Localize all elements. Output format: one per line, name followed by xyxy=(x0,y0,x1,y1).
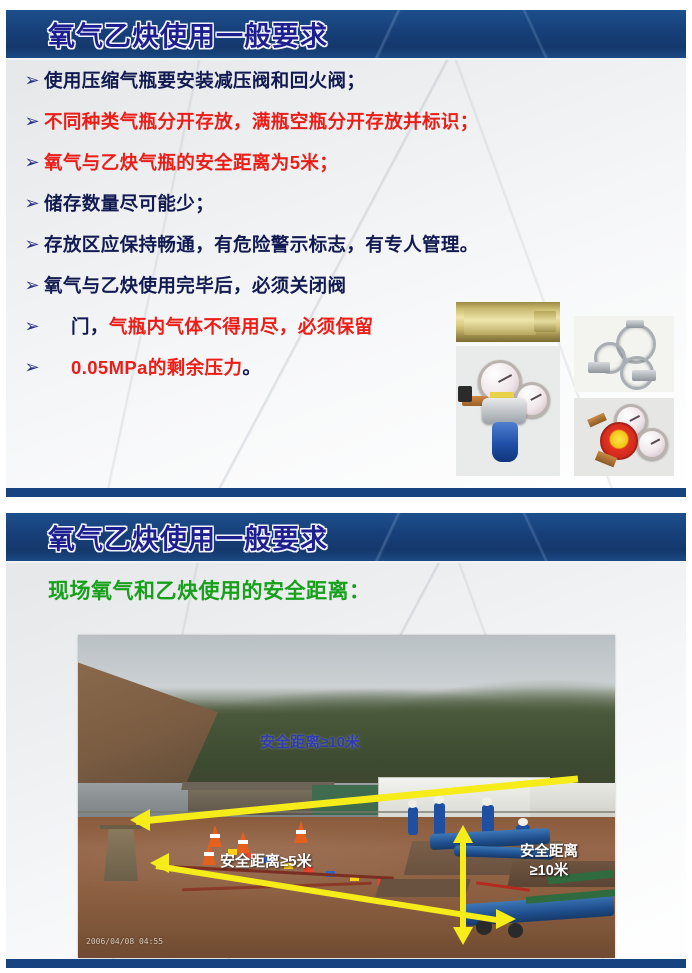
blue-oxygen-regulator-photo xyxy=(456,346,560,476)
distance-arrow-10m-vertical-head-down xyxy=(453,927,473,945)
distance-arrow-10m-head xyxy=(130,809,150,831)
clamp-screw xyxy=(626,320,644,328)
bullet-arrow-icon: ➢ xyxy=(20,312,44,342)
worker-helmet xyxy=(434,795,444,804)
bullet-arrow-icon: ➢ xyxy=(20,148,44,178)
equipment-photo-cluster xyxy=(452,302,676,480)
regulator-adjust-knob xyxy=(492,422,518,462)
worker-helmet xyxy=(482,797,492,806)
bullet-arrow-icon: ➢ xyxy=(20,230,44,260)
regulator-body xyxy=(482,398,526,424)
red-acetylene-regulator-photo xyxy=(574,398,674,476)
bullet-text: 储存数量尽可能少； xyxy=(44,189,214,219)
traffic-cone xyxy=(294,821,308,843)
distance-arrow-5m-head-right xyxy=(496,909,516,929)
bullet-item: ➢ 氧气与乙炔气瓶的安全距离为5米； xyxy=(20,148,678,189)
bullet-arrow-icon: ➢ xyxy=(20,66,44,96)
bullet-text-prefix: 门， xyxy=(71,316,109,337)
bullet-text: 门，气瓶内气体不得用尽，必须保留 xyxy=(44,312,373,342)
hose-clamps-photo xyxy=(574,316,674,392)
bullet-arrow-icon: ➢ xyxy=(20,271,44,301)
bullet-text: 0.05MPa的剩余压力。 xyxy=(44,353,261,383)
distance-arrow-10m-vertical xyxy=(460,839,466,933)
bullet-item: ➢ 存放区应保持畅通，有危险警示标志，有专人管理。 xyxy=(20,230,678,271)
annotation-bottom-5m: 安全距离≥5米 xyxy=(220,850,312,871)
bullet-text: 不同种类气瓶分开存放，满瓶空瓶分开存放并标识； xyxy=(44,107,479,137)
bullet-arrow-icon: ➢ xyxy=(20,189,44,219)
worker-helmet xyxy=(408,800,417,808)
slide-oxygen-acetylene-requirements: 氧气乙炔使用一般要求 ➢ 使用压缩气瓶要安装减压阀和回火阀； ➢ 不同种类气瓶分… xyxy=(6,10,686,497)
flashback-arrestor-photo xyxy=(456,302,560,342)
slide2-subtitle: 现场氧气和乙炔使用的安全距离： xyxy=(48,575,371,605)
slide2-footer-bar xyxy=(6,959,686,968)
bullet-text-suffix: 。 xyxy=(242,357,261,378)
slide-site-safety-distance: 氧气乙炔使用一般要求 现场氧气和乙炔使用的安全距离： xyxy=(6,513,686,968)
bullet-text: 氧气与乙炔使用完毕后，必须关闭阀 xyxy=(44,271,346,301)
bullet-arrow-icon: ➢ xyxy=(20,353,44,383)
clamp-screw xyxy=(632,370,656,381)
bullet-arrow-icon: ➢ xyxy=(20,107,44,137)
bullet-item: ➢ 不同种类气瓶分开存放，满瓶空瓶分开存放并标识； xyxy=(20,107,678,148)
worker-helmet xyxy=(518,818,528,826)
slide1-title: 氧气乙炔使用一般要求 xyxy=(48,15,328,54)
bullet-text: 使用压缩气瓶要安装减压阀和回火阀； xyxy=(44,66,365,96)
slide2-title: 氧气乙炔使用一般要求 xyxy=(48,518,328,557)
annotation-top-10m: 安全距离≥10米 xyxy=(260,731,360,752)
bullet-text-emphasis: 气瓶内气体不得用尽，必须保留 xyxy=(109,316,374,337)
annotation-right-10m-line1: 安全距离 xyxy=(520,843,578,862)
worker xyxy=(408,807,418,835)
bullet-text-emphasis: 0.05MPa的剩余压力 xyxy=(71,357,242,378)
annotation-right-10m-line2: ≥10米 xyxy=(520,862,578,881)
site-photo: 安全距离≥10米 安全距离≥5米 安全距离 ≥10米 2006/04/08 04… xyxy=(78,635,615,958)
slide1-banner: 氧气乙炔使用一般要求 xyxy=(6,10,686,60)
distance-arrow-10m-vertical-head-up xyxy=(453,825,473,843)
annotation-right-10m: 安全距离 ≥10米 xyxy=(520,843,578,881)
steel-cage xyxy=(104,827,138,881)
pressure-gauge-icon xyxy=(636,428,668,460)
clamp-screw xyxy=(588,362,610,373)
bullet-item: ➢ 储存数量尽可能少； xyxy=(20,189,678,230)
traffic-cone xyxy=(208,825,222,847)
regulator-inlet xyxy=(587,413,607,428)
white-container-building xyxy=(530,783,615,819)
photo-timestamp: 2006/04/08 04:55 xyxy=(86,937,163,946)
bullet-text: 氧气与乙炔气瓶的安全距离为5米； xyxy=(44,148,338,178)
steel-plate xyxy=(375,879,471,897)
slide-deck: 氧气乙炔使用一般要求 ➢ 使用压缩气瓶要安装减压阀和回火阀； ➢ 不同种类气瓶分… xyxy=(0,0,692,973)
worker xyxy=(434,803,445,835)
perimeter-fence xyxy=(78,811,615,813)
slide1-footer-bar xyxy=(6,488,686,497)
distance-arrow-5m-head-left xyxy=(150,853,169,873)
bullet-text: 存放区应保持畅通，有危险警示标志，有专人管理。 xyxy=(44,230,479,260)
bullet-item: ➢ 使用压缩气瓶要安装减压阀和回火阀； xyxy=(20,66,678,107)
regulator-fitting xyxy=(458,386,472,402)
slide2-banner: 氧气乙炔使用一般要求 xyxy=(6,513,686,563)
